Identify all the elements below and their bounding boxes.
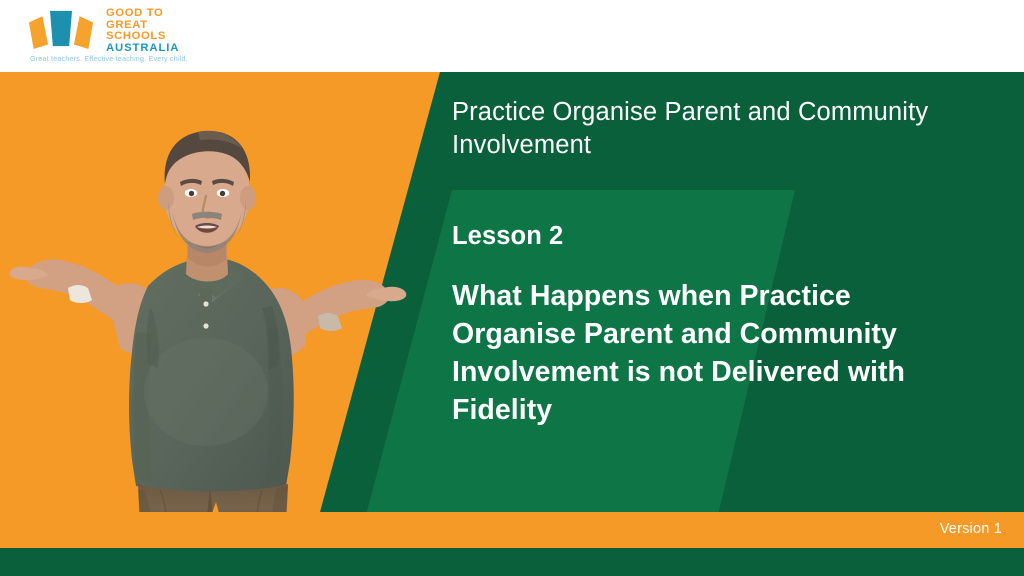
lesson-label: Lesson 2 [452,222,992,251]
slide-text-column: Practice Organise Parent and Community I… [452,96,992,429]
presenter-photo [0,72,420,524]
logo-wordmark: GOOD TO GREAT SCHOOLS AUSTRALIA [106,8,218,54]
logo-mark-icon [24,6,98,52]
footer-bar [0,548,1024,576]
brand-logo: GOOD TO GREAT SCHOOLS AUSTRALIA Great te… [22,4,222,70]
logo-line-australia: AUSTRALIA [106,43,218,55]
course-title: Practice Organise Parent and Community I… [452,96,992,162]
lesson-heading: What Happens when Practice Organise Pare… [452,277,982,429]
bottom-orange-band [0,512,1024,548]
logo-line-good-to: GOOD TO [106,8,218,20]
presentation-slide: GOOD TO GREAT SCHOOLS AUSTRALIA Great te… [0,0,1024,576]
logo-tagline: Great teachers. Effective teaching. Ever… [30,55,188,63]
version-label: Version 1 [940,521,1002,537]
header-band: GOOD TO GREAT SCHOOLS AUSTRALIA Great te… [0,0,1024,72]
